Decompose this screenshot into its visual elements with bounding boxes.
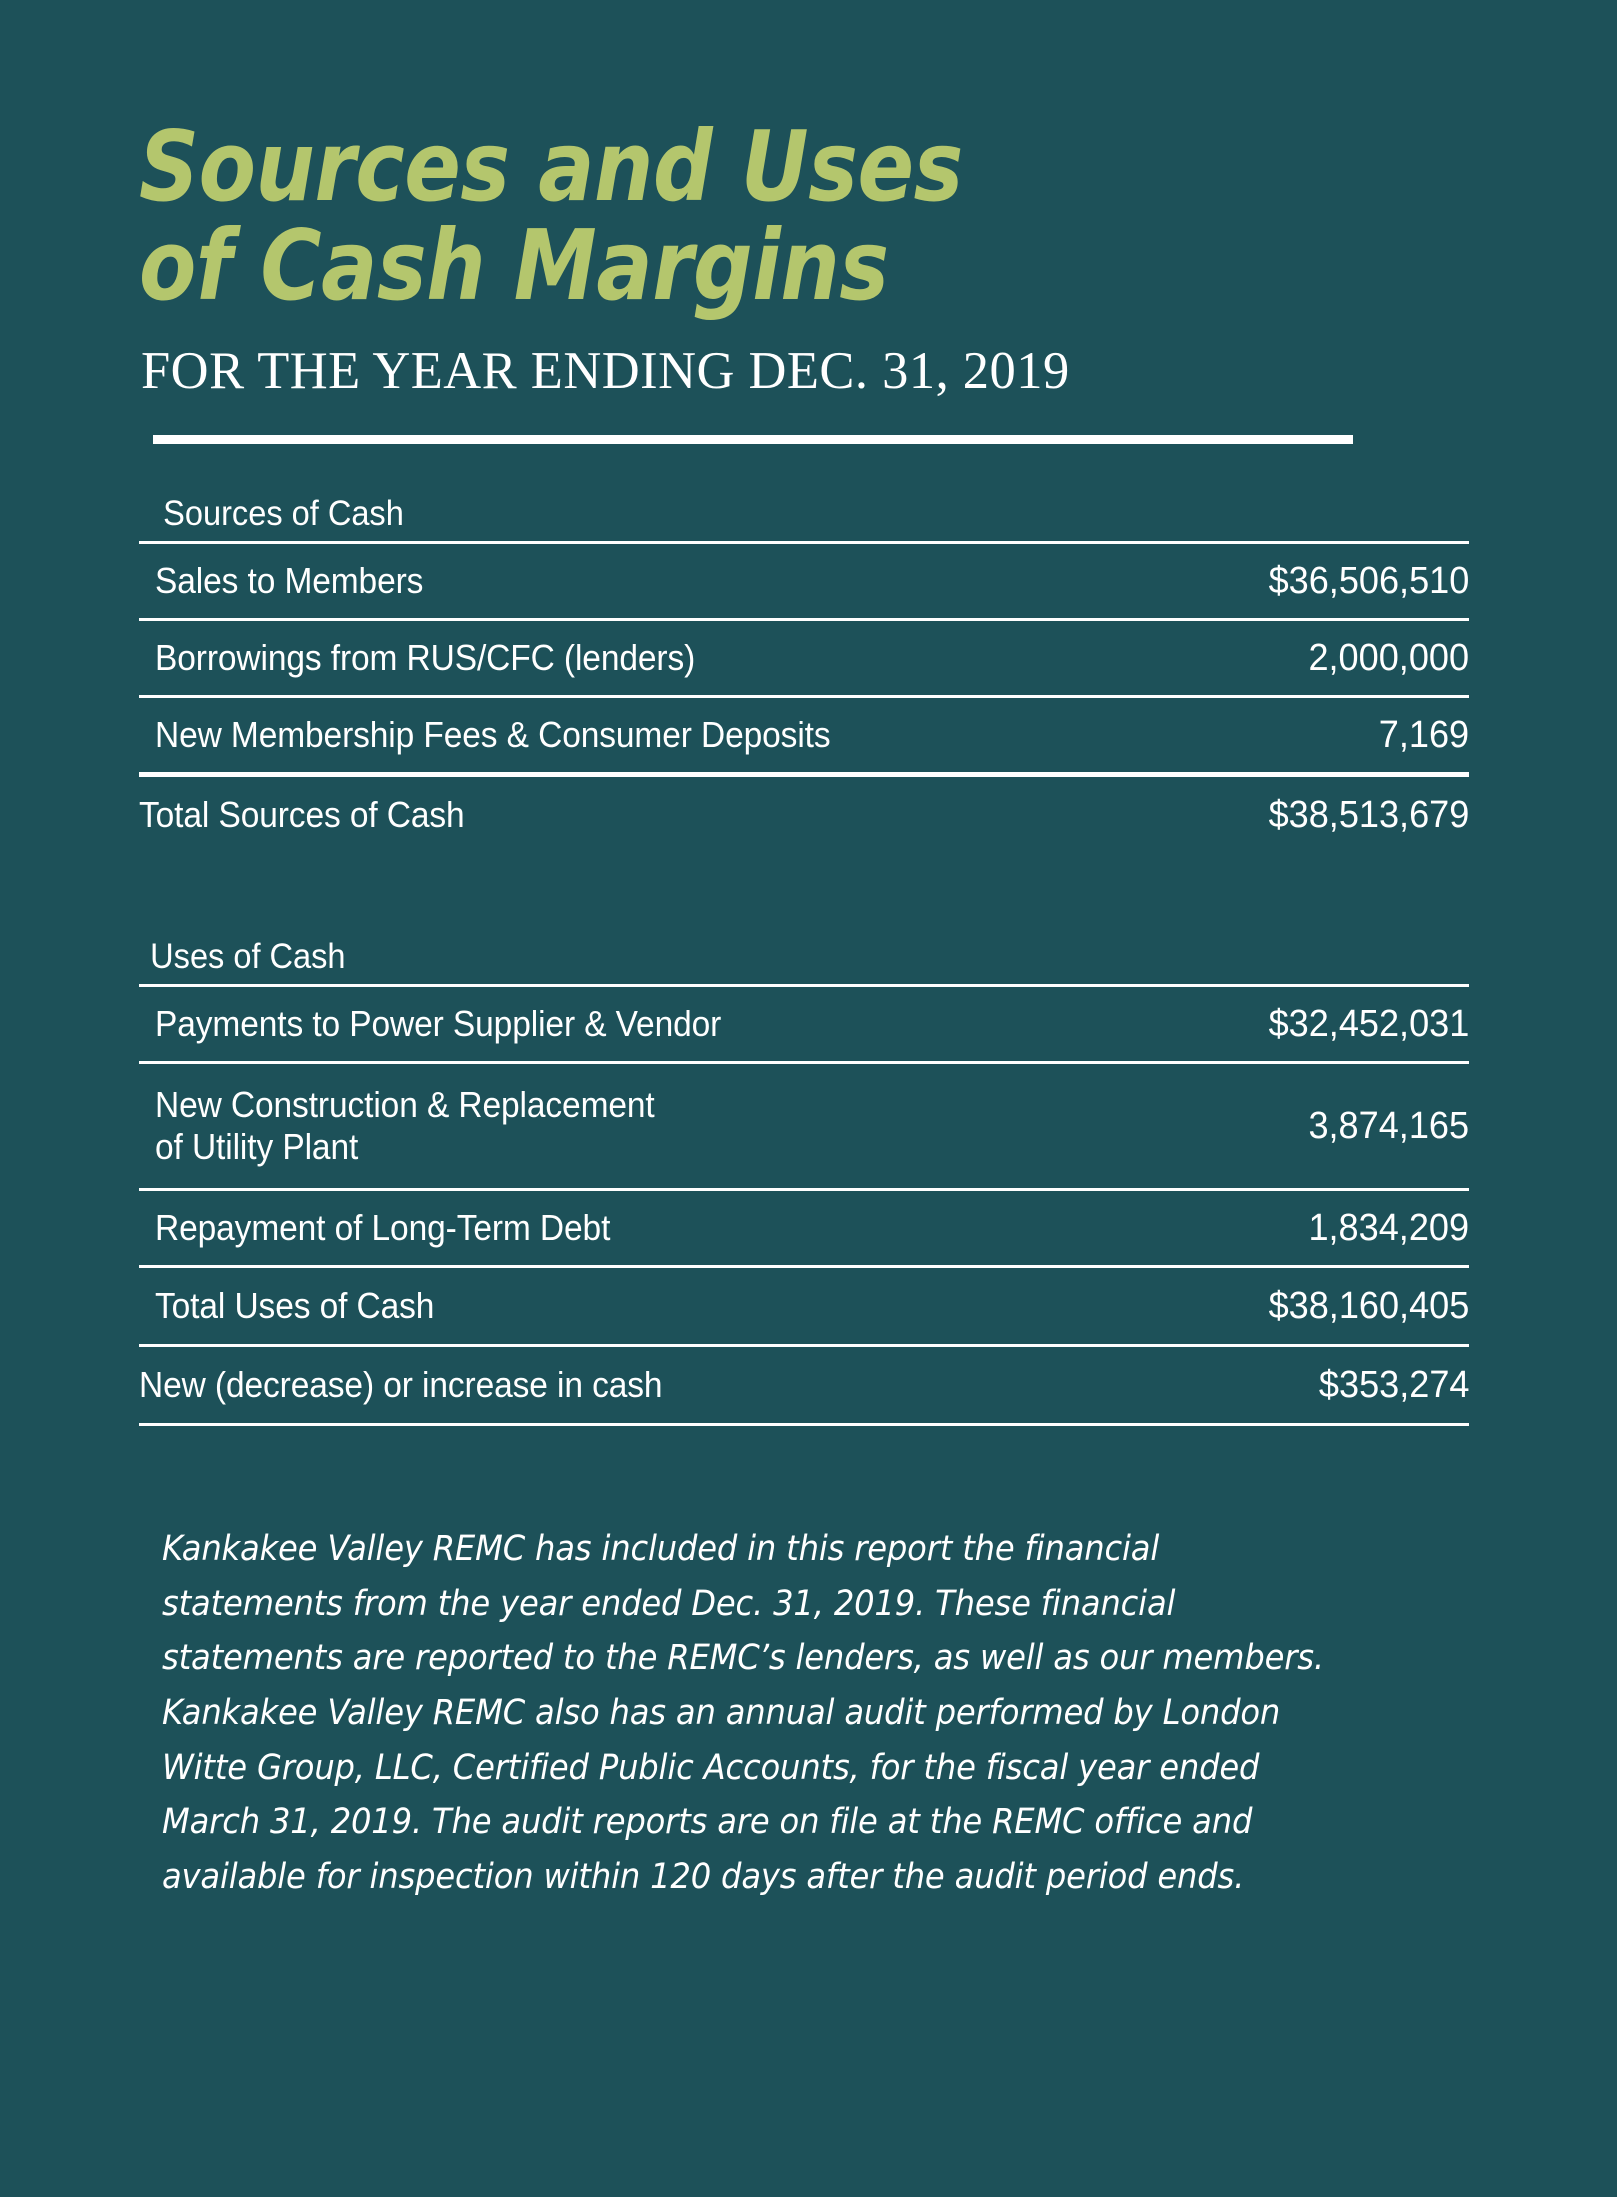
row-label: Total Uses of Cash [155, 1285, 434, 1327]
footnote-text: Kankakee Valley REMC has included in thi… [162, 1522, 1349, 1904]
row-value: $38,513,679 [1268, 793, 1469, 838]
financial-tables: Sources of Cash Sales to Members $36,506… [139, 496, 1469, 1426]
row-label: New (decrease) or increase in cash [139, 1364, 662, 1406]
page-title: Sources and Uses of Cash Margins [139, 118, 1410, 316]
uses-section-heading: Uses of Cash [139, 939, 1376, 984]
section-spacer [139, 853, 1469, 939]
table-row-net: New (decrease) or increase in cash $353,… [139, 1347, 1469, 1423]
row-label: Sales to Members [155, 560, 423, 602]
header-divider [153, 435, 1353, 444]
row-label: Total Sources of Cash [139, 794, 465, 836]
row-label: Payments to Power Supplier & Vendor [155, 1003, 721, 1045]
row-value: 3,874,165 [1308, 1104, 1469, 1149]
row-value: $36,506,510 [1268, 559, 1469, 604]
table-row: New Construction & Replacement of Utilit… [139, 1064, 1469, 1188]
row-value: $353,274 [1318, 1363, 1469, 1408]
sources-section-heading: Sources of Cash [139, 496, 1376, 541]
report-header: Sources and Uses of Cash Margins FOR THE… [0, 0, 1617, 444]
row-label: New Construction & Replacement of Utilit… [155, 1084, 655, 1169]
row-value: $32,452,031 [1268, 1002, 1469, 1047]
row-label: New Membership Fees & Consumer Deposits [155, 714, 831, 756]
row-value: 2,000,000 [1308, 636, 1469, 681]
table-row: New Membership Fees & Consumer Deposits … [139, 698, 1469, 772]
page-subtitle: FOR THE YEAR ENDING DEC. 31, 2019 [141, 342, 1602, 400]
financial-report-page: Sources and Uses of Cash Margins FOR THE… [0, 0, 1617, 2197]
row-label: Repayment of Long-Term Debt [155, 1207, 610, 1249]
row-value: 1,834,209 [1308, 1206, 1469, 1251]
table-row: Repayment of Long-Term Debt 1,834,209 [139, 1191, 1469, 1265]
table-row-total: Total Sources of Cash $38,513,679 [139, 777, 1469, 853]
table-row: Borrowings from RUS/CFC (lenders) 2,000,… [139, 621, 1469, 695]
row-label: Borrowings from RUS/CFC (lenders) [155, 637, 695, 679]
row-divider [139, 1423, 1469, 1426]
table-row: Sales to Members $36,506,510 [139, 544, 1469, 618]
table-row: Payments to Power Supplier & Vendor $32,… [139, 987, 1469, 1061]
row-value: 7,169 [1379, 713, 1469, 758]
table-row-total: Total Uses of Cash $38,160,405 [139, 1268, 1469, 1344]
row-value: $38,160,405 [1268, 1284, 1469, 1329]
